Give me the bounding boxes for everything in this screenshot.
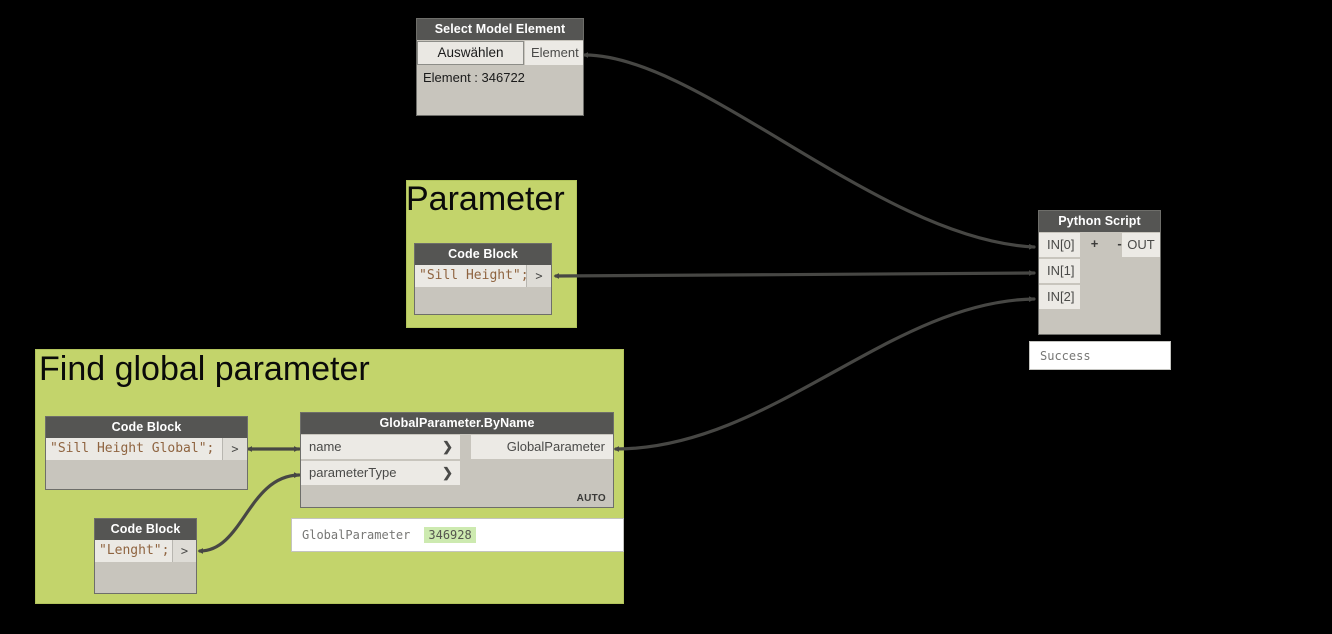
port-in-2[interactable]: IN[2] — [1039, 285, 1080, 309]
port-out-code-block-sill-height-global[interactable]: > — [222, 438, 247, 460]
port-out-code-block-lenght[interactable]: > — [172, 540, 196, 562]
port-out-out[interactable]: OUT — [1122, 233, 1160, 257]
add-port-button[interactable]: + — [1083, 232, 1106, 256]
node-body-code-block-lenght: "Lenght"; > — [95, 540, 196, 593]
preview-python-status-label: Success — [1030, 349, 1091, 363]
port-out-element[interactable]: Element — [525, 41, 583, 65]
auto-badge: AUTO — [577, 493, 606, 504]
port-in-name[interactable]: name ❯ — [301, 435, 460, 459]
port-in-0[interactable]: IN[0] — [1039, 233, 1080, 257]
port-in-1[interactable]: IN[1] — [1039, 259, 1080, 283]
node-title-code-block-sill-height-global: Code Block — [46, 417, 247, 438]
code-text-sill-height-global[interactable]: "Sill Height Global"; — [46, 438, 222, 460]
node-body-code-block-sill-height-global: "Sill Height Global"; > — [46, 438, 247, 489]
group-parameter-title: Parameter — [406, 182, 565, 216]
node-global-parameter-by-name[interactable]: GlobalParameter.ByName name ❯ parameterT… — [300, 412, 614, 508]
node-title-select-model-element: Select Model Element — [417, 19, 583, 40]
node-code-block-sill-height-global[interactable]: Code Block "Sill Height Global"; > — [45, 416, 248, 490]
group-find-global-parameter-title: Find global parameter — [39, 352, 370, 386]
preview-python-status: Success — [1029, 341, 1171, 370]
node-body-select-model-element: Auswählen Element Element : 346722 — [417, 40, 583, 115]
code-text-sill-height[interactable]: "Sill Height"; — [415, 265, 526, 287]
node-body-python-script: IN[0] IN[1] IN[2] + - OUT — [1039, 232, 1160, 334]
node-title-python-script: Python Script — [1039, 211, 1160, 232]
chevron-right-icon: ❯ — [442, 435, 453, 459]
port-in-name-label: name — [309, 439, 342, 454]
port-in-parametertype-label: parameterType — [309, 465, 396, 480]
code-text-lenght[interactable]: "Lenght"; — [95, 540, 172, 562]
node-title-code-block-sill-height: Code Block — [415, 244, 551, 265]
node-title-code-block-lenght: Code Block — [95, 519, 196, 540]
wire-globalparameter-to-in2 — [616, 299, 1034, 449]
node-code-block-lenght[interactable]: Code Block "Lenght"; > — [94, 518, 197, 594]
wire-sill-height-to-in1 — [556, 273, 1034, 276]
chevron-right-icon: ❯ — [442, 461, 453, 485]
node-body-global-parameter-by-name: name ❯ parameterType ❯ GlobalParameter A… — [301, 434, 613, 507]
port-in-parametertype[interactable]: parameterType ❯ — [301, 461, 460, 485]
node-body-code-block-sill-height: "Sill Height"; > — [415, 265, 551, 314]
node-title-global-parameter-by-name: GlobalParameter.ByName — [301, 413, 613, 434]
node-select-model-element[interactable]: Select Model Element Auswählen Element E… — [416, 18, 584, 116]
auswaehlen-button[interactable]: Auswählen — [417, 41, 524, 65]
dynamo-canvas[interactable]: Parameter Find global parameter Select M… — [0, 0, 1332, 634]
wire-element-to-in0 — [585, 55, 1034, 247]
port-out-code-block-sill-height[interactable]: > — [526, 265, 551, 287]
node-python-script[interactable]: Python Script IN[0] IN[1] IN[2] + - OUT — [1038, 210, 1161, 335]
element-id-text: Element : 346722 — [423, 70, 525, 85]
port-out-globalparameter[interactable]: GlobalParameter — [471, 435, 613, 459]
preview-global-parameter-label: GlobalParameter — [292, 528, 410, 542]
node-code-block-sill-height[interactable]: Code Block "Sill Height"; > — [414, 243, 552, 315]
preview-global-parameter-value: 346928 — [424, 527, 475, 543]
preview-global-parameter: GlobalParameter 346928 — [291, 518, 624, 552]
